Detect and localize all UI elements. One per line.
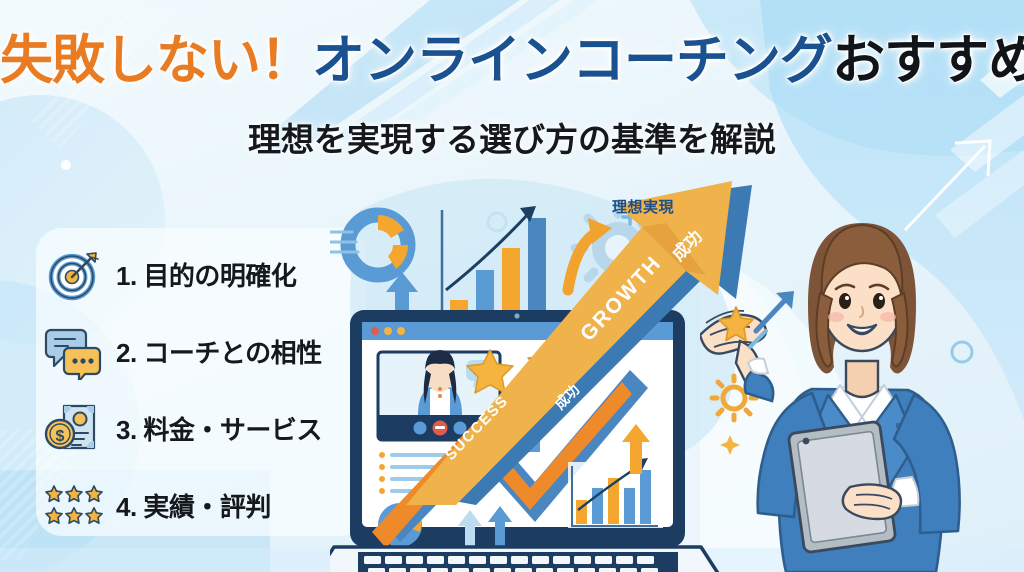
list-item: 4. 実績・評判 [44, 467, 374, 544]
business-woman-illustration [700, 195, 1024, 572]
checklist: 1. 目的の明確化 2. コーチとの相性 [44, 236, 374, 544]
list-item-label: 1. 目的の明確化 [116, 256, 296, 293]
label-ideal: 理想実現 [612, 196, 674, 217]
stars-icon [44, 476, 104, 536]
headline: 失敗しない！オンラインコーチングおすすめ5選 [0, 34, 1024, 87]
subtitle: 理想を実現する選び方の基準を解説 [0, 113, 1024, 161]
banner-canvas: 失敗しない！オンラインコーチングおすすめ5選 理想を実現する選び方の基準を解説 [0, 0, 1024, 572]
gear-icon [723, 387, 745, 409]
list-item: $ 3. 料金・サービス [44, 390, 374, 467]
chat-bubbles-icon [44, 322, 104, 382]
list-item-label: 2. コーチとの相性 [116, 333, 322, 370]
list-item: 2. コーチとの相性 [44, 313, 374, 390]
blue-up-arrow-icon [756, 299, 786, 331]
headline-part-3: おすすめ [832, 31, 1024, 90]
svg-text:$: $ [56, 428, 65, 445]
money-icon: $ [44, 399, 104, 459]
headline-part-2: オンラインコーチング [312, 31, 832, 90]
sparkle-icon [720, 435, 740, 455]
headline-part-1: 失敗しない！ [0, 31, 312, 90]
target-icon [44, 245, 104, 305]
person-body [745, 223, 960, 572]
list-item: 1. 目的の明確化 [44, 236, 374, 313]
list-item-label: 3. 料金・サービス [116, 410, 322, 447]
list-item-label: 4. 実績・評判 [116, 487, 271, 524]
